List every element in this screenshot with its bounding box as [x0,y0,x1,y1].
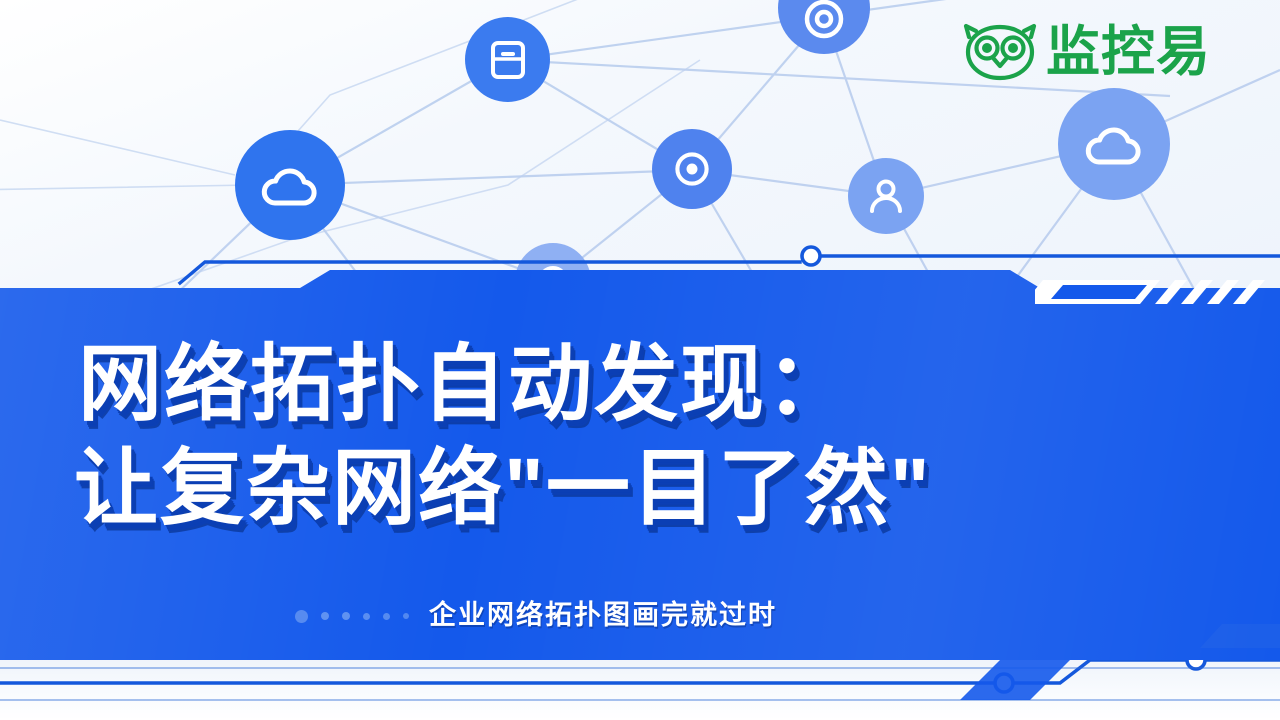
subtitle-row: 企业网络拓扑图画完就过时 [295,592,995,632]
background-bottom [0,655,1280,720]
node-target-mid [652,129,732,209]
headline-line-1: 网络拓扑自动发现： [78,332,1198,436]
cloud-icon [259,162,321,208]
cloud-icon [1083,121,1145,167]
target-icon [671,148,713,190]
target-icon [801,0,847,42]
owl-icon [963,21,1037,83]
server-icon [488,39,528,81]
node-cloud-left [235,130,345,240]
node-cloud-right [1058,88,1170,200]
headline-line-2: 让复杂网络"一目了然" [74,436,1198,540]
user-icon [868,176,904,216]
headline: 网络拓扑自动发现： 让复杂网络"一目了然" [78,332,1198,540]
chevron-decoration [1035,272,1280,312]
brand-logo: 监控易 [963,21,1211,83]
brand-name: 监控易 [1046,25,1211,79]
poster-canvas: 网络拓扑自动发现： 让复杂网络"一目了然" 企业网络拓扑图画完就过时 [0,0,1280,720]
node-user [848,158,924,234]
node-server [465,17,550,102]
subtitle-text: 企业网络拓扑图画完就过时 [429,593,777,632]
dot-decoration [295,610,409,623]
